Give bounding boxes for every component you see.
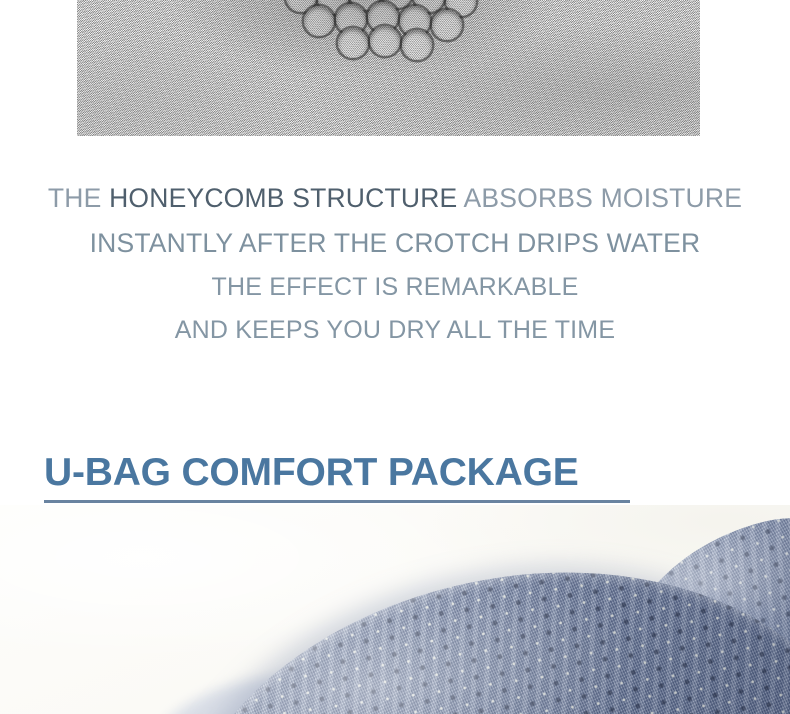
description-line-2: INSTANTLY AFTER THE CROTCH DRIPS WATER (0, 221, 790, 266)
section-heading-title: U-BAG COMFORT PACKAGE (44, 449, 644, 497)
honeycomb-fabric-image (77, 0, 700, 136)
section-heading-underline (44, 500, 630, 503)
description-line-3: THE EFFECT IS REMARKABLE (0, 266, 790, 309)
description-line-1-lead: THE (48, 183, 109, 213)
description-line-4: AND KEEPS YOU DRY ALL THE TIME (0, 309, 790, 352)
description-line-1: THE HONEYCOMB STRUCTURE ABSORBS MOISTURE (0, 176, 790, 221)
page-root: THE HONEYCOMB STRUCTURE ABSORBS MOISTURE… (0, 0, 790, 714)
description-line-1-tail: ABSORBS MOISTURE (457, 183, 742, 213)
u-bag-product-image (0, 505, 790, 714)
honeycomb-image-shading (77, 0, 700, 136)
section-heading: U-BAG COMFORT PACKAGE (44, 449, 644, 497)
description-line-1-emphasis: HONEYCOMB STRUCTURE (109, 183, 457, 213)
feature-description: THE HONEYCOMB STRUCTURE ABSORBS MOISTURE… (0, 176, 790, 352)
